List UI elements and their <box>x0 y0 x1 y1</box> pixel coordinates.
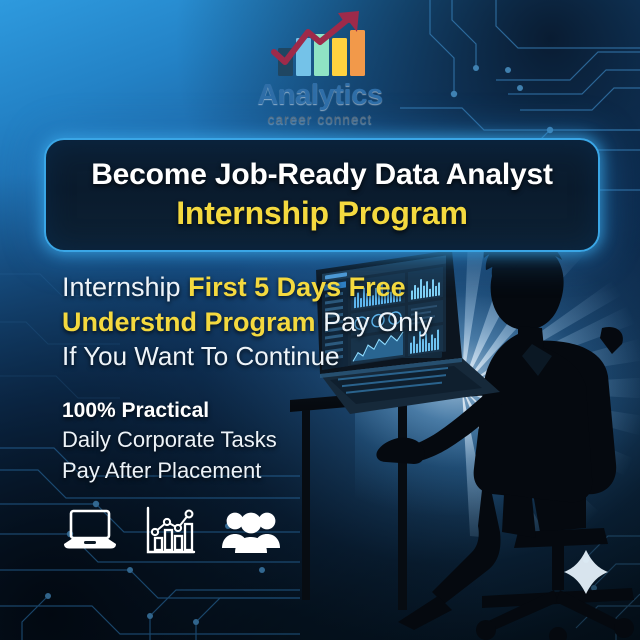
offer-row-1-part-1: Internship <box>62 272 181 302</box>
benefit-item-0: 100% Practical <box>62 396 392 425</box>
headline-line-2: Internship Program <box>176 197 468 231</box>
feature-icon-strip <box>62 506 280 556</box>
brand-name: Analytics <box>257 81 382 110</box>
benefits-block: 100% Practical Daily Corporate Tasks Pay… <box>62 396 392 487</box>
headline-line-1: Become Job-Ready Data Analyst <box>91 159 553 191</box>
offer-row-1-part-2: First 5 Days Free <box>188 272 406 302</box>
bar-chart-line-icon <box>144 506 196 556</box>
offer-row-1: Internship First 5 Days Free <box>62 270 482 305</box>
brand-tagline: career connect <box>268 113 373 127</box>
offer-row-3-part-1: If You Want To Continue <box>62 341 340 371</box>
benefit-item-2: Pay After Placement <box>62 456 392 487</box>
laptop-icon <box>62 507 118 555</box>
offer-row-2: Understnd Program Pay Only <box>62 305 482 340</box>
offer-block: Internship First 5 Days Free Understnd P… <box>62 270 482 374</box>
sparkle-icon <box>564 550 608 594</box>
headline-box: Become Job-Ready Data Analyst Internship… <box>44 138 600 252</box>
people-group-icon <box>222 508 280 554</box>
brand-logo: Analytics career connect <box>0 8 640 130</box>
offer-row-2-part-1: Understnd Program <box>62 307 316 337</box>
bar-chart-growth-arrow-icon <box>264 8 376 80</box>
offer-row-2-part-2: Pay Only <box>323 307 433 337</box>
benefit-item-1: Daily Corporate Tasks <box>62 425 392 456</box>
poster-canvas: Analytics career connect Become Job-Read… <box>0 0 640 640</box>
offer-row-3: If You Want To Continue <box>62 340 482 374</box>
